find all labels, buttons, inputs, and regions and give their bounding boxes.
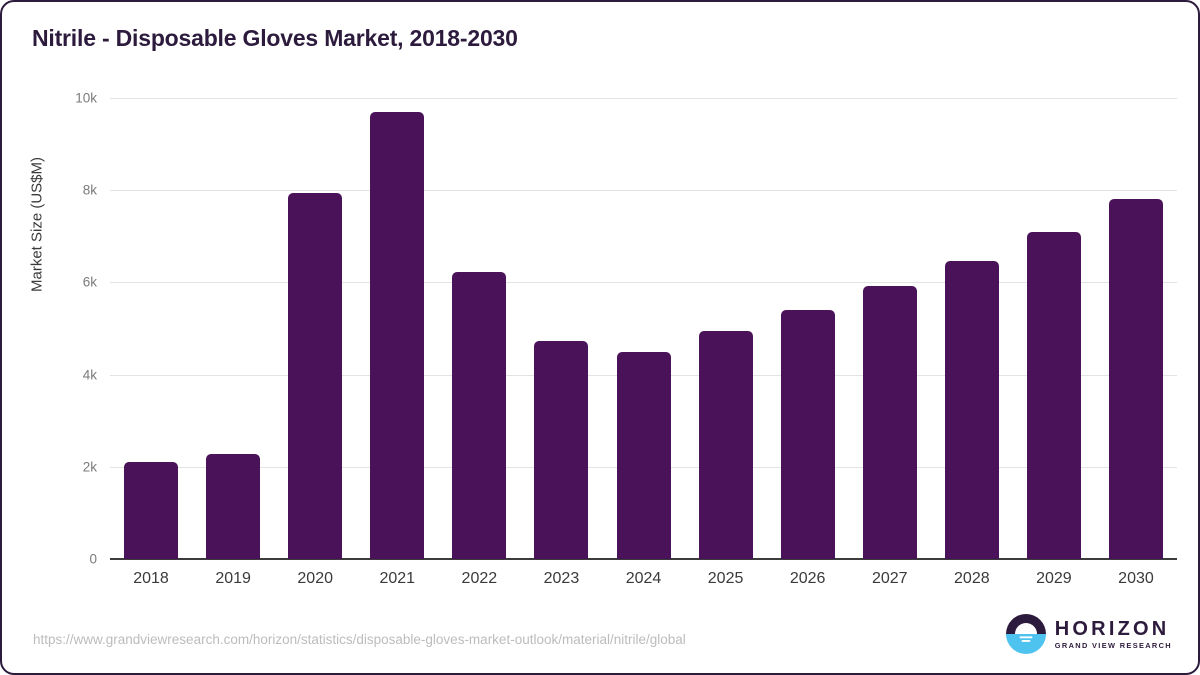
y-axis-title: Market Size (US$M) [29,25,46,425]
x-tick-label: 2019 [192,570,274,588]
bar-slot [438,98,520,559]
bar-slot [274,98,356,559]
x-tick-label: 2021 [356,570,438,588]
x-axis-ticks: 2018201920202021202220232024202520262027… [110,570,1177,588]
bar[interactable] [206,454,260,559]
bar-series [110,98,1177,559]
source-url[interactable]: https://www.grandviewresearch.com/horizo… [33,632,686,647]
bar-slot [602,98,684,559]
bar[interactable] [863,286,917,559]
bar[interactable] [617,352,671,559]
bar-slot [192,98,274,559]
page-title: Nitrile - Disposable Gloves Market, 2018… [32,25,518,52]
x-tick-label: 2029 [1013,570,1095,588]
bar[interactable] [699,331,753,559]
bar-slot [931,98,1013,559]
bar[interactable] [452,272,506,559]
x-tick-label: 2030 [1095,570,1177,588]
bar[interactable] [1027,232,1081,559]
bar-slot [767,98,849,559]
bar[interactable] [534,341,588,559]
chart-card: Nitrile - Disposable Gloves Market, 2018… [0,0,1200,675]
y-tick-label: 2k [42,459,97,474]
bar-slot [685,98,767,559]
bar-slot [520,98,602,559]
x-tick-label: 2023 [520,570,602,588]
x-tick-label: 2024 [602,570,684,588]
x-tick-label: 2025 [685,570,767,588]
y-tick-label: 0 [42,552,97,567]
bar[interactable] [288,193,342,559]
bar[interactable] [945,261,999,559]
y-tick-label: 6k [42,275,97,290]
bar-slot [1095,98,1177,559]
bar[interactable] [1109,199,1163,559]
bar-slot [1013,98,1095,559]
x-tick-label: 2022 [438,570,520,588]
x-tick-label: 2028 [931,570,1013,588]
horizon-logo: HORIZON GRAND VIEW RESEARCH [1006,614,1172,654]
x-tick-label: 2018 [110,570,192,588]
logo-text: HORIZON GRAND VIEW RESEARCH [1055,619,1172,649]
y-tick-label: 4k [42,367,97,382]
x-tick-label: 2026 [767,570,849,588]
y-tick-label: 10k [42,91,97,106]
logo-tagline: GRAND VIEW RESEARCH [1055,642,1172,649]
logo-wordmark: HORIZON [1055,619,1172,639]
bar-slot [356,98,438,559]
x-tick-label: 2020 [274,570,356,588]
horizon-sunrise-circle-icon [1006,614,1046,654]
x-tick-label: 2027 [849,570,931,588]
bar[interactable] [370,112,424,559]
bar[interactable] [124,462,178,559]
y-tick-label: 8k [42,183,97,198]
bar-slot [849,98,931,559]
bar[interactable] [781,310,835,559]
bar-slot [110,98,192,559]
